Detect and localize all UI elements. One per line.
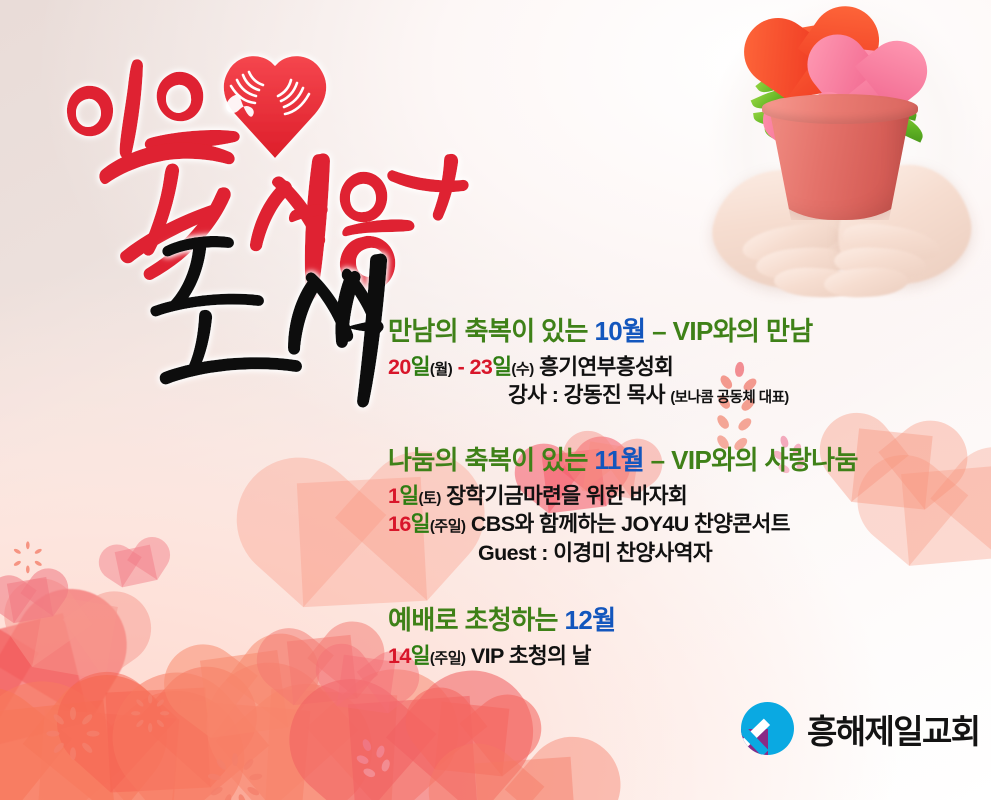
deco-heart [435, 702, 510, 777]
event-schedule: 만남의 축복이 있는 10월 – VIP와의 만남 20일(월) - 23일(수… [388, 316, 968, 678]
deco-heart [265, 689, 397, 800]
oct-event-name: 흥기연부흥성회 [534, 355, 674, 379]
line-oct-dates: 20일(월) - 23일(수) 흥기연부흥성회 [388, 353, 968, 381]
oct-date-start-unit: 일 [411, 355, 430, 379]
church-name: 흥해제일교회 [807, 705, 980, 753]
oct-date-separator: - [452, 355, 469, 379]
hands-holding-flowerpot-photo [690, 0, 990, 314]
section-november-heading-prefix: 나눔의 축복이 있는 [388, 445, 594, 475]
dec-vip-weekday: (주일) [430, 650, 466, 667]
flower-pot-rim [762, 94, 918, 124]
deco-heart [115, 545, 158, 588]
nov-concert-date-unit: 일 [411, 512, 430, 536]
poster-canvas: 만남의 축복이 있는 10월 – VIP와의 만남 20일(월) - 23일(수… [0, 0, 991, 800]
section-december: 예배로 초청하는 12월 14일(주일) VIP 초청의 날 [388, 605, 968, 670]
section-december-month: 12월 [565, 605, 616, 635]
section-december-heading-prefix: 예배로 초청하는 [388, 605, 565, 635]
photo-hands [690, 0, 990, 314]
deco-heart [337, 655, 396, 714]
section-november: 나눔의 축복이 있는 11월 – VIP와의 사랑나눔 1일(토) 장학기금마련… [388, 445, 968, 567]
oct-date-end-unit: 일 [492, 355, 511, 379]
dec-vip-date-unit: 일 [411, 644, 430, 668]
line-nov-concert: 16일(주일) CBS와 함께하는 JOY4U 찬양콘서트 [388, 510, 968, 538]
poster-title [58, 42, 478, 342]
section-october-heading-prefix: 만남의 축복이 있는 [388, 316, 594, 346]
section-december-heading: 예배로 초청하는 12월 [388, 605, 968, 636]
title-calligraphy-svg [58, 42, 478, 342]
line-dec-vip: 14일(주일) VIP 초청의 날 [388, 642, 968, 670]
section-october-heading-suffix: – VIP와의 만남 [645, 316, 812, 346]
line-nov-guest: Guest : 이경미 찬양사역자 [388, 539, 968, 567]
dec-vip-date-number: 14 [388, 644, 411, 668]
deco-heart [348, 696, 478, 800]
oct-speaker-affiliation: (보나콤 공동체 대표) [670, 390, 788, 406]
deco-heart [105, 687, 210, 792]
nov-concert-date-number: 16 [388, 512, 411, 536]
oct-date-end-weekday: (수) [511, 361, 533, 378]
deco-heart [287, 635, 357, 705]
deco-heart [7, 577, 53, 623]
section-november-heading-suffix: – VIP와의 사랑나눔 [644, 445, 858, 475]
heart-with-hands-icon [224, 56, 326, 158]
church-logo: 흥해제일교회 [741, 702, 980, 755]
line-oct-speaker: 강사 : 강동진 목사 (보나콤 공동체 대표) [388, 381, 968, 409]
deco-heart [32, 594, 118, 680]
section-october-month: 10월 [594, 316, 645, 346]
nov-bazaar-name: 장학기금마련을 위한 바자회 [441, 484, 687, 508]
oct-speaker-name: 강사 : 강동진 목사 [508, 383, 670, 407]
deco-heart [475, 757, 577, 800]
section-october: 만남의 축복이 있는 10월 – VIP와의 만남 20일(월) - 23일(수… [388, 316, 968, 409]
dec-vip-name: VIP 초청의 날 [466, 644, 591, 668]
deco-heart [200, 650, 288, 738]
nov-concert-weekday: (주일) [430, 518, 466, 535]
nov-bazaar-date-number: 1 [388, 484, 399, 508]
section-november-month: 11월 [594, 445, 644, 475]
deco-heart [170, 700, 311, 800]
nov-bazaar-weekday: (토) [419, 490, 441, 507]
deco-heart [0, 613, 90, 749]
nov-bazaar-date-unit: 일 [399, 484, 418, 508]
deco-heart [35, 709, 179, 800]
nov-concert-name: CBS와 함께하는 JOY4U 찬양콘서트 [466, 512, 790, 536]
section-october-heading: 만남의 축복이 있는 10월 – VIP와의 만남 [388, 316, 968, 347]
section-november-heading: 나눔의 축복이 있는 11월 – VIP와의 사랑나눔 [388, 445, 968, 476]
oct-date-start-weekday: (월) [430, 361, 452, 378]
oct-date-start-number: 20 [388, 355, 411, 379]
spacer [388, 417, 968, 445]
nov-guest-name: Guest : 이경미 찬양사역자 [478, 541, 712, 565]
line-nov-bazaar: 1일(토) 장학기금마련을 위한 바자회 [388, 482, 968, 510]
spacer [388, 575, 968, 605]
oct-date-end-number: 23 [470, 355, 493, 379]
church-logo-mark-icon [741, 702, 794, 755]
deco-heart [0, 700, 116, 800]
